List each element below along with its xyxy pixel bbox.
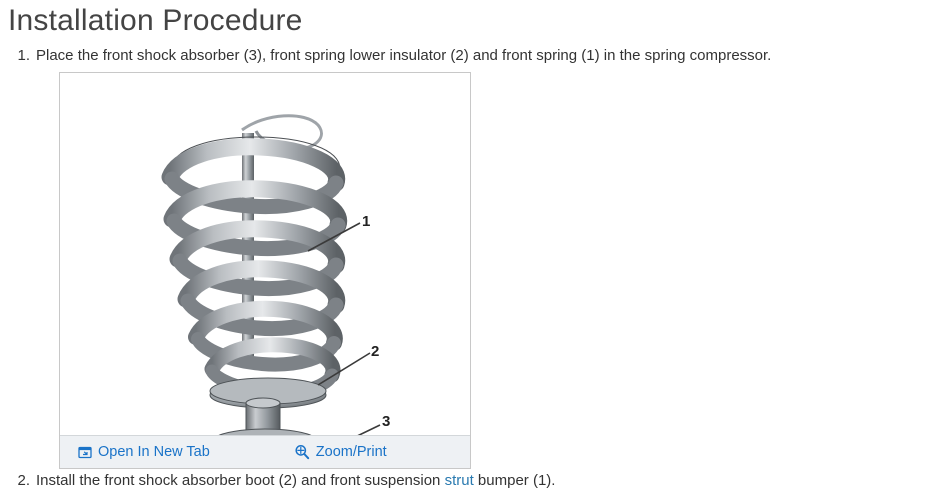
step-2-text-before: Install the front shock absorber boot (2… xyxy=(36,472,445,489)
list-item-step-1: 1. Place the front shock absorber (3), f… xyxy=(0,46,935,66)
step-2-text: Install the front shock absorber boot (2… xyxy=(36,471,935,491)
magnifier-icon xyxy=(294,444,310,460)
callout-2: 2 xyxy=(371,343,379,360)
step-2-number: 2. xyxy=(0,471,36,491)
open-in-new-tab-button[interactable]: Open In New Tab xyxy=(78,444,210,460)
step-1-number: 1. xyxy=(0,46,36,66)
callout-1: 1 xyxy=(362,213,370,230)
installation-steps: 1. Place the front shock absorber (3), f… xyxy=(0,46,935,66)
step-1-text: Place the front shock absorber (3), fron… xyxy=(36,46,935,66)
list-item-step-2: 2. Install the front shock absorber boot… xyxy=(0,471,935,491)
page-title: Installation Procedure xyxy=(0,0,935,40)
figure-container: 1 2 3 Open In New Tab Zoom/P xyxy=(59,72,471,469)
strut-assembly-image: 1 2 3 xyxy=(60,73,470,435)
open-in-new-tab-label: Open In New Tab xyxy=(98,444,210,460)
open-in-new-tab-icon xyxy=(78,445,92,459)
zoom-print-button[interactable]: Zoom/Print xyxy=(294,444,387,460)
figure-toolbar: Open In New Tab Zoom/Print xyxy=(60,435,470,468)
installation-steps-continued: 2. Install the front shock absorber boot… xyxy=(0,471,935,491)
step-2-text-after: bumper (1). xyxy=(474,472,556,489)
zoom-print-label: Zoom/Print xyxy=(316,444,387,460)
callout-3: 3 xyxy=(382,413,390,430)
strut-assembly-svg xyxy=(60,73,470,435)
strut-link[interactable]: strut xyxy=(445,472,474,489)
